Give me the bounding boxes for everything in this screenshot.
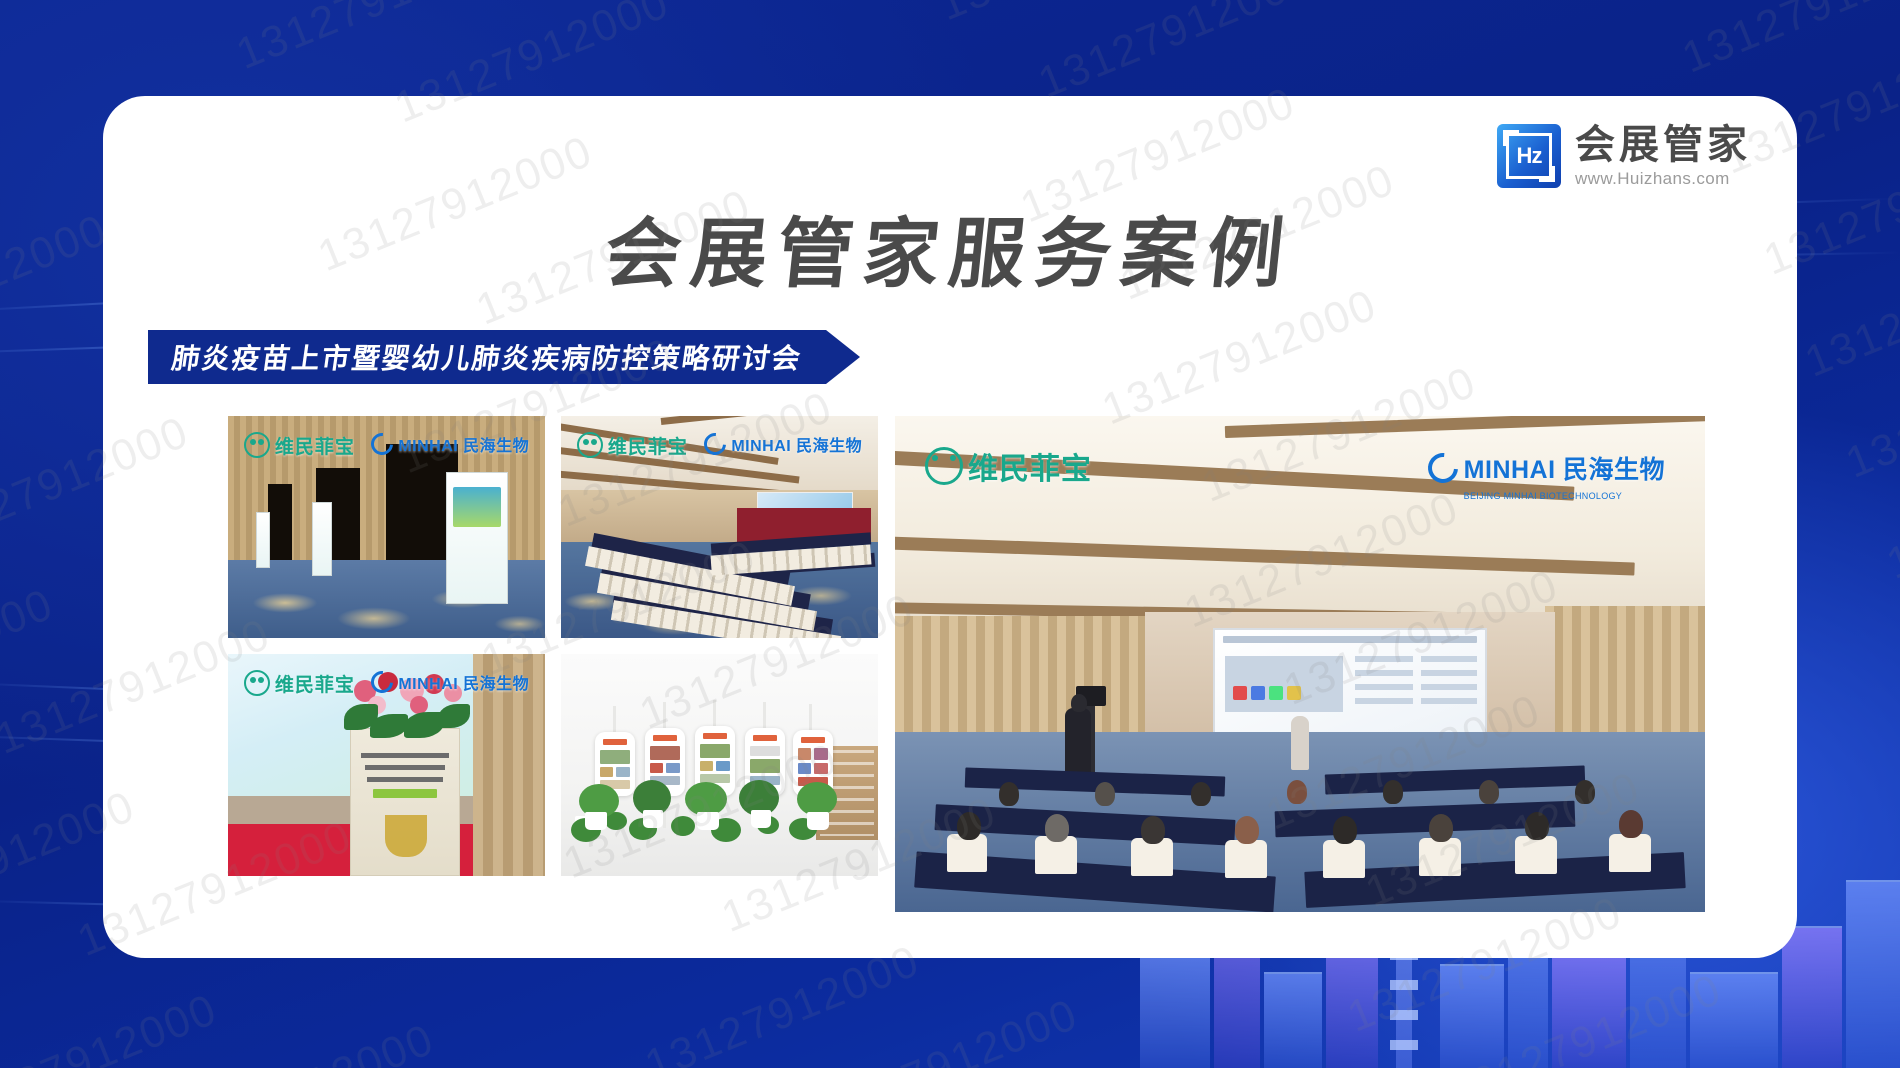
overlay-sponsor-blue-sublabel: BEIJING MINHAI BIOTECHNOLOGY xyxy=(1464,491,1622,501)
content-card: Hz 会展管家 www.Huizhans.com 会展管家服务案例 肺炎疫苗上市… xyxy=(103,96,1797,958)
minhai-swoosh-icon xyxy=(367,428,398,459)
leaf-circle-icon xyxy=(925,447,963,485)
overlay-sponsor-green-label: 维民菲宝 xyxy=(608,432,688,459)
minhai-swoosh-icon xyxy=(1422,447,1464,489)
brand-mark-letters: Hz xyxy=(1517,143,1542,169)
overlay-sponsor-green-label: 维民菲宝 xyxy=(275,670,355,697)
brand-name: 会展管家 xyxy=(1575,124,1751,166)
leaf-circle-icon xyxy=(577,432,603,458)
overlay-logo-sponsor-blue: MINHAI 民海生物 xyxy=(371,432,529,456)
overlay-sponsor-green-label: 维民菲宝 xyxy=(275,432,355,459)
overlay-sponsor-blue-label: MINHAI 民海生物 xyxy=(398,670,529,694)
overlay-logo-sponsor-green: 维民菲宝 xyxy=(577,432,688,459)
page-title: 会展管家服务案例 xyxy=(103,192,1797,302)
gallery-photo-entrance[interactable]: 维民菲宝 MINHAI 民海生物 xyxy=(228,416,545,638)
overlay-sponsor-green-label: 维民菲宝 xyxy=(968,444,1092,488)
leaf-circle-icon xyxy=(244,432,270,458)
overlay-sponsor-blue-label: MINHAI 民海生物 xyxy=(398,432,529,456)
speaker-at-podium xyxy=(1291,716,1309,770)
gallery-photo-exhibition-boards[interactable] xyxy=(561,654,878,876)
overlay-logo-sponsor-blue: MINHAI 民海生物 BEIJING MINHAI BIOTECHNOLOGY xyxy=(1428,450,1665,501)
minhai-swoosh-icon xyxy=(700,428,731,459)
huizhans-logo-icon: Hz xyxy=(1497,124,1561,188)
photo-gallery: 维民菲宝 MINHAI 民海生物 xyxy=(125,408,1775,920)
event-title-text: 肺炎疫苗上市暨婴幼儿肺炎疾病防控策略研讨会 xyxy=(169,337,805,377)
overlay-logo-sponsor-green: 维民菲宝 xyxy=(925,444,1092,488)
minhai-swoosh-icon xyxy=(367,666,398,697)
brand-url: www.Huizhans.com xyxy=(1575,169,1751,189)
overlay-logo-sponsor-blue: MINHAI 民海生物 xyxy=(371,670,529,694)
event-title-banner: 肺炎疫苗上市暨婴幼儿肺炎疾病防控策略研讨会 xyxy=(148,330,860,384)
overlay-logo-sponsor-blue: MINHAI 民海生物 xyxy=(704,432,862,456)
brand-logo[interactable]: Hz 会展管家 www.Huizhans.com xyxy=(1497,124,1751,189)
presentation-screen xyxy=(1213,628,1487,738)
gallery-photo-banquet-hall[interactable]: 维民菲宝 MINHAI 民海生物 xyxy=(561,416,878,638)
overlay-logo-sponsor-green: 维民菲宝 xyxy=(244,432,355,459)
event-standing-sign xyxy=(350,728,460,876)
gallery-photo-main-session[interactable]: 维民菲宝 MINHAI 民海生物 BEIJING MINHAI BIOTECHN… xyxy=(895,416,1705,912)
gallery-photo-stage-signage[interactable]: 维民菲宝 MINHAI 民海生物 xyxy=(228,654,545,876)
leaf-circle-icon xyxy=(244,670,270,696)
overlay-sponsor-blue-label: MINHAI 民海生物 xyxy=(1464,450,1665,486)
person-head xyxy=(1071,694,1087,712)
overlay-sponsor-blue-label: MINHAI 民海生物 xyxy=(731,432,862,456)
overlay-logo-sponsor-green: 维民菲宝 xyxy=(244,670,355,697)
